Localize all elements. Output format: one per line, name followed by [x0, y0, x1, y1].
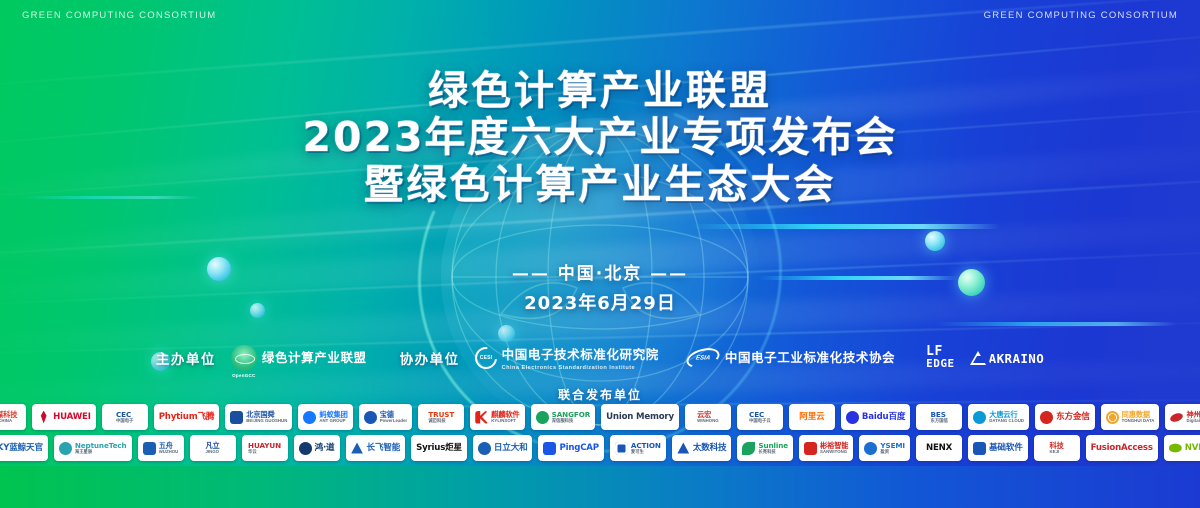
- circ-icon: [864, 442, 877, 455]
- partner-name-en: DATANG CLOUD: [989, 419, 1024, 423]
- partner-name-en: 中国电子: [116, 419, 133, 423]
- partner-logo-card[interactable]: 长飞智能: [346, 435, 406, 461]
- partner-name-en: WINHONG: [697, 419, 719, 423]
- partner-logo-card[interactable]: Sunline长亮科技: [737, 435, 793, 461]
- title-line-2: 2023年度六大产业专项发布会: [0, 114, 1200, 162]
- petal-icon: [37, 411, 50, 424]
- cesi-name-cn: 中国电子技术标准化研究院: [502, 347, 659, 362]
- partner-logo-card[interactable]: 日立大和: [473, 435, 533, 461]
- partner-logo-card[interactable]: FusionAccess: [1086, 435, 1158, 461]
- sq-icon: [804, 442, 817, 455]
- akraino-logo: AKRAINO: [970, 351, 1044, 366]
- partner-logo-card[interactable]: 五舟WUZHOU: [138, 435, 184, 461]
- partner-logo-card[interactable]: 神州数码Digital China: [1165, 404, 1200, 430]
- partner-logo-card[interactable]: 凡立JINGO: [190, 435, 236, 461]
- floating-sphere: [498, 325, 515, 342]
- title-block: 绿色计算产业联盟 2023年度六大产业专项发布会 暨绿色计算产业生态大会: [0, 68, 1200, 208]
- partner-logo-row-1: 安谋科技arm CHINAHUAWEICEC中国电子Phytium飞腾北京国舜B…: [55, 404, 1145, 430]
- partner-logo-card[interactable]: 科技KEJI: [1034, 435, 1080, 461]
- corner-wordmark-right: GREEN COMPUTING CONSORTIUM: [984, 10, 1178, 21]
- sq-icon: [543, 442, 556, 455]
- partner-name-cn: Sunline: [758, 442, 788, 449]
- partner-logo-card[interactable]: Baidu百度: [841, 404, 910, 430]
- cesi-name-en: China Electronics Standardization Instit…: [502, 365, 659, 371]
- gcc-mark-text: OpenGCC: [231, 373, 257, 378]
- partner-name-en: SANWITONG: [820, 450, 848, 454]
- partner-name-cn: Baidu百度: [862, 413, 905, 422]
- partner-logo-card[interactable]: HUAYUN华云: [242, 435, 288, 461]
- tri-icon: [677, 442, 690, 455]
- circ-icon: [299, 442, 312, 455]
- partner-name-cn: BES: [931, 411, 948, 418]
- coorganizer-label: 协办单位: [400, 348, 460, 368]
- partner-logo-card[interactable]: SANGFOR深信服科技: [531, 404, 596, 430]
- partner-name-cn: YSEMI: [880, 442, 905, 449]
- partner-name-cn: 彬裕智能: [820, 442, 848, 449]
- partner-name-en: PowerLeader: [380, 419, 408, 423]
- partner-logo-card[interactable]: CEC中国电子云: [737, 404, 783, 430]
- partner-logo-card[interactable]: Syrius炬星: [411, 435, 467, 461]
- organizer-row: 主办单位 OpenGCC 绿色计算产业联盟 协办单位 中国电子技术标准化研究院 …: [0, 345, 1200, 371]
- esia-name-cn: 中国电子工业标准化技术协会: [725, 351, 895, 365]
- akraino-text: AKRAINO: [989, 351, 1044, 366]
- partner-name-cn: 蚂蚁集团: [319, 411, 347, 418]
- partner-name-cn: 五舟: [159, 442, 179, 449]
- partner-name-cn: NVIDIA: [1185, 444, 1200, 453]
- partner-name-en: JINGO: [205, 450, 219, 454]
- partner-name-cn: PingCAP: [559, 444, 598, 453]
- partner-logo-grid: 安谋科技arm CHINAHUAWEICEC中国电子Phytium飞腾北京国舜B…: [55, 404, 1145, 466]
- partner-logo-card[interactable]: PingCAP: [538, 435, 603, 461]
- sq-icon: [230, 411, 243, 424]
- event-date: 2023年6月29日: [0, 289, 1200, 315]
- subtitle-block: —— 中国·北京 —— 2023年6月29日: [0, 259, 1200, 315]
- partner-logo-card[interactable]: CEC中国电子: [102, 404, 148, 430]
- partner-name-cn: 麒麟软件: [491, 411, 519, 418]
- partner-name-cn: 凡立: [205, 442, 219, 449]
- partner-name-cn: Phytium飞腾: [159, 413, 215, 422]
- partner-logo-card[interactable]: 太数科技: [672, 435, 732, 461]
- partner-name-cn: FusionAccess: [1091, 444, 1153, 453]
- partner-logo-card[interactable]: Phytium飞腾: [154, 404, 220, 430]
- circ-icon: [536, 411, 549, 424]
- akraino-triangle-icon: [970, 351, 986, 365]
- partner-logo-row-2: 科大数据CaseGOSKY蓝鲸天官NeptuneTech海王星辰五舟WUZHOU…: [55, 435, 1145, 461]
- circ-icon: [59, 442, 72, 455]
- k-icon: [475, 411, 488, 424]
- joint-publishers-label: 联合发布单位: [0, 386, 1200, 403]
- partner-name-cn: 大唐云行: [989, 411, 1024, 418]
- leaf-icon: [742, 442, 755, 455]
- partner-logo-card[interactable]: 大唐云行DATANG CLOUD: [968, 404, 1029, 430]
- partner-name-cn: 鸿·道: [315, 444, 335, 453]
- partner-logo-card[interactable]: 彬裕智能SANWITONG: [799, 435, 853, 461]
- partner-name-cn: 宝德: [380, 411, 408, 418]
- partner-name-cn: 太数科技: [693, 444, 727, 453]
- partner-name-en: 中国电子云: [749, 419, 771, 423]
- partner-name-en: 诚迈科技: [428, 419, 454, 423]
- sq-icon: [973, 442, 986, 455]
- partner-name-cn: 云宏: [697, 411, 719, 418]
- event-location: —— 中国·北京 ——: [0, 259, 1200, 284]
- partner-name-cn: 神州数码: [1186, 411, 1200, 418]
- partner-name-cn: SANGFOR: [552, 411, 591, 418]
- partner-name-en: KYLINSOFT: [491, 419, 519, 423]
- partner-logo-card[interactable]: 基础软件: [968, 435, 1028, 461]
- partner-name-en: ANT GROUP: [319, 419, 347, 423]
- partner-logo-card[interactable]: Union Memory: [601, 404, 679, 430]
- partner-logo-card[interactable]: BES东方国信: [916, 404, 962, 430]
- partner-name-en: 华云: [248, 450, 281, 454]
- conference-banner: GREEN COMPUTING CONSORTIUM GREEN COMPUTI…: [0, 0, 1200, 508]
- partner-logo-card[interactable]: 东方金信: [1035, 404, 1095, 430]
- partner-name-cn: SKY蓝鲸天官: [0, 444, 43, 453]
- circ-icon: [973, 411, 986, 424]
- partner-name-cn: 日立大和: [494, 444, 528, 453]
- host-name: 绿色计算产业联盟: [262, 351, 367, 365]
- partner-name-en: TONGHUI DATA: [1122, 419, 1155, 423]
- esia-icon: [686, 348, 720, 368]
- partner-name-cn: 长飞智能: [367, 444, 401, 453]
- partner-logo-card[interactable]: YSEMI盈资: [859, 435, 910, 461]
- partner-logo-card[interactable]: 安谋科技arm CHINA: [0, 404, 26, 430]
- partner-name-en: arm CHINA: [0, 419, 17, 423]
- partner-name-cn: CEC: [749, 411, 771, 418]
- ellip-icon: [1170, 411, 1185, 423]
- gcc-globe-icon: OpenGCC: [231, 345, 257, 371]
- partner-logo-card[interactable]: TRUST诚迈科技: [418, 404, 464, 430]
- partner-name-en: 盈资: [880, 450, 905, 454]
- eye-icon: [1169, 442, 1182, 455]
- partner-name-cn: NeptuneTech: [75, 442, 127, 449]
- partner-logo-card[interactable]: 蚂蚁集团ANT GROUP: [298, 404, 352, 430]
- title-line-1: 绿色计算产业联盟: [0, 68, 1200, 114]
- partner-name-en: 海王星辰: [75, 450, 127, 454]
- sun-icon: [1106, 411, 1119, 424]
- circ-icon: [478, 442, 491, 455]
- partner-logo-card[interactable]: 宝德PowerLeader: [359, 404, 413, 430]
- partner-logo-card[interactable]: 同惠数据TONGHUI DATA: [1101, 404, 1160, 430]
- host-logo-gcc: OpenGCC 绿色计算产业联盟: [231, 345, 367, 371]
- partner-name-en: 爱可生: [631, 450, 661, 454]
- paw-icon: [846, 411, 859, 424]
- partner-name-cn: 科技: [1050, 442, 1064, 449]
- host-label: 主办单位: [156, 348, 216, 368]
- partner-name-cn: TRUST: [428, 411, 454, 418]
- partner-name-cn: 基础软件: [989, 444, 1023, 453]
- partner-name-en: KEJI: [1050, 450, 1064, 454]
- sq-icon: [143, 442, 156, 455]
- partner-name-cn: CEC: [116, 411, 133, 418]
- partner-name-en: WUZHOU: [159, 450, 179, 454]
- lf-edge-logo: LF EDGE: [926, 346, 955, 369]
- partner-name-cn: ACTION: [631, 442, 661, 449]
- partner-name-cn: HUAWEI: [53, 413, 91, 422]
- partner-logo-card[interactable]: NVIDIA: [1164, 435, 1200, 461]
- circ-icon: [364, 411, 377, 424]
- partner-name-cn: 阿里云: [799, 413, 824, 422]
- coorganizer-logo-esia: 中国电子工业标准化技术协会: [686, 348, 895, 368]
- floating-sphere: [925, 231, 945, 251]
- partner-name-cn: 东方金信: [1056, 413, 1090, 422]
- partner-logo-card[interactable]: HUAWEI: [32, 404, 96, 430]
- partner-logo-card[interactable]: ACTION爱可生: [610, 435, 666, 461]
- circ-icon: [303, 411, 316, 424]
- circ-icon: [1040, 411, 1053, 424]
- partner-name-en: 深信服科技: [552, 419, 591, 423]
- partner-name-cn: NENX: [926, 444, 952, 453]
- partner-logo-card[interactable]: 麒麟软件KYLINSOFT: [470, 404, 524, 430]
- partner-name-cn: 同惠数据: [1122, 411, 1155, 418]
- partner-logo-card[interactable]: 云宏WINHONG: [685, 404, 731, 430]
- tri-icon: [351, 442, 364, 455]
- partner-logo-card[interactable]: NeptuneTech海王星辰: [54, 435, 132, 461]
- lf-edge-line2: EDGE: [926, 359, 955, 370]
- partner-name-cn: Union Memory: [606, 413, 674, 422]
- partner-logo-card[interactable]: SKY蓝鲸天官: [0, 435, 48, 461]
- title-line-3: 暨绿色计算产业生态大会: [0, 162, 1200, 208]
- partner-logo-card[interactable]: 鸿·道: [294, 435, 340, 461]
- partner-name-en: Digital China: [1186, 419, 1200, 423]
- partner-logo-card[interactable]: 阿里云: [789, 404, 835, 430]
- partner-name-cn: Syrius炬星: [416, 444, 462, 453]
- gear-icon: [615, 442, 628, 455]
- corner-wordmark-left: GREEN COMPUTING CONSORTIUM: [22, 10, 216, 21]
- partner-name-en: 东方国信: [931, 419, 948, 423]
- bottom-gradient-strip: [0, 466, 1200, 508]
- partner-name-en: BEIJING GUOSHUN: [246, 419, 287, 423]
- partner-logo-card[interactable]: NENX: [916, 435, 962, 461]
- partner-name-en: 长亮科技: [758, 450, 788, 454]
- cesi-icon: [470, 343, 501, 374]
- partner-name-cn: 北京国舜: [246, 411, 287, 418]
- partner-name-cn: 安谋科技: [0, 411, 17, 418]
- coorganizer-logo-cesi: 中国电子技术标准化研究院 China Electronics Standardi…: [475, 346, 659, 371]
- partner-logo-card[interactable]: 北京国舜BEIJING GUOSHUN: [225, 404, 292, 430]
- partner-name-cn: HUAYUN: [248, 442, 281, 449]
